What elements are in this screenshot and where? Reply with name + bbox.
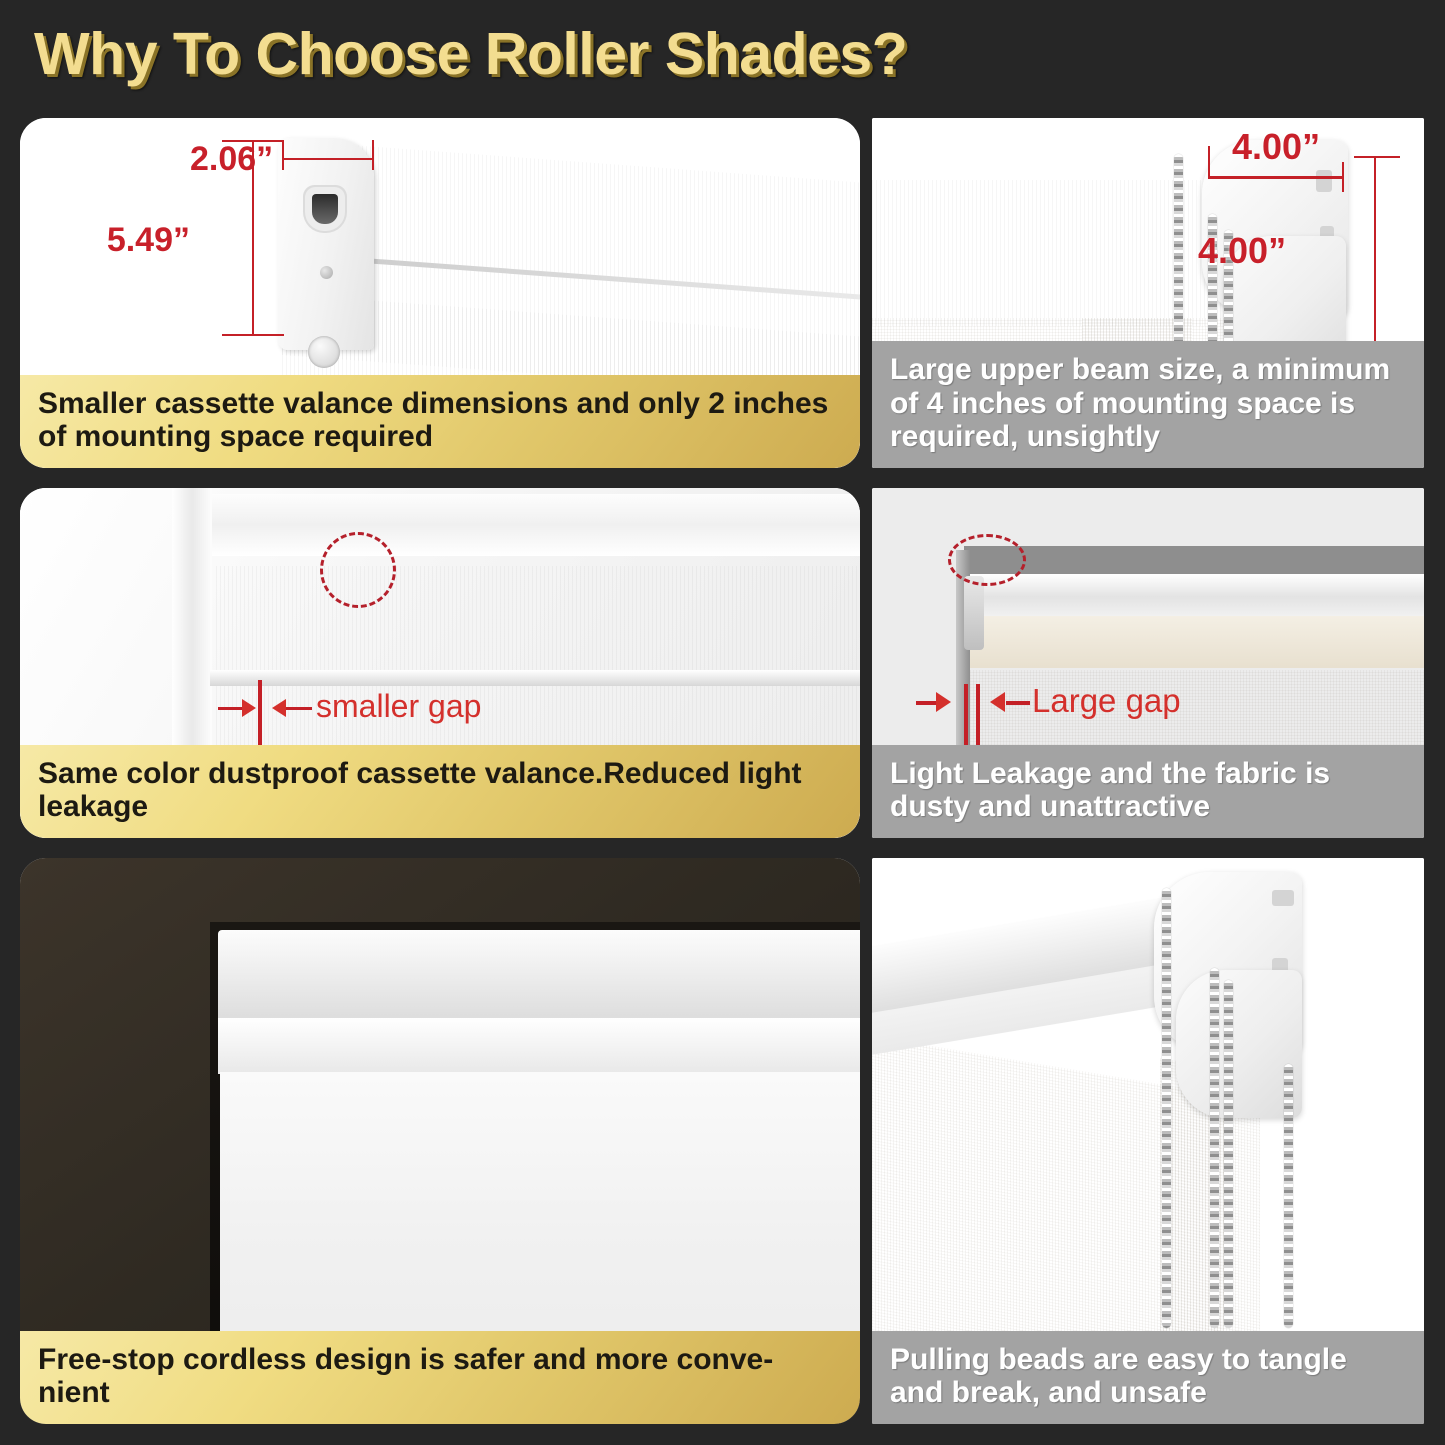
page-title: Why To Choose Roller Shades? (34, 20, 907, 88)
width-tick-right (372, 140, 374, 170)
width-tick-left (282, 140, 284, 170)
beam-width-tick-left (1208, 146, 1210, 178)
gap-arrow-right-head-icon (990, 692, 1005, 712)
beam-width-label: 4.00” (1232, 126, 1320, 168)
height-tick-top (222, 140, 284, 142)
gap-arrow-right-shaft (1006, 701, 1030, 705)
valance-knob (308, 336, 340, 368)
panel-large-gap: Large gap Light Leakage and the fabric i… (872, 488, 1424, 838)
panel-cordless-design: Free-stop cordless design is safer and m… (20, 858, 860, 1424)
bead-chain-3 (1224, 980, 1233, 1328)
height-dimension-label: 5.49” (107, 221, 190, 260)
valance-screw (320, 266, 333, 279)
smaller-gap-label: smaller gap (316, 688, 481, 725)
bead-chain-4 (1284, 1064, 1293, 1328)
panel-large-beam: 4.00” 4.00” Large upper beam size, a min… (872, 118, 1424, 468)
shade-rail (210, 670, 860, 686)
width-dimension-line (282, 158, 374, 160)
panel-6-caption: Pulling beads are easy to tangle and bre… (872, 1331, 1424, 1424)
gap-arrow-left-shaft (916, 701, 938, 705)
valance-slot (312, 194, 338, 224)
infographic-root: Why To Choose Roller Shades? 2.06” 5.49”… (0, 0, 1445, 1445)
header-bar: Why To Choose Roller Shades? (0, 0, 1445, 112)
shade-panel-upper (216, 566, 860, 674)
gap-arrow-right-head-icon (272, 699, 286, 717)
panel-4-caption: Light Leakage and the fabric is dusty an… (872, 745, 1424, 838)
window-frame-top (172, 494, 860, 556)
gap-arrow-right-shaft (286, 707, 312, 710)
mounting-clip (964, 576, 984, 650)
bead-chain-2 (1210, 968, 1219, 1328)
valance-end-cap (278, 138, 374, 350)
cream-valance (964, 616, 1424, 668)
panel-smaller-gap: smaller gap Same color dustproof cassett… (20, 488, 860, 838)
cassette-valance-lip (218, 1018, 860, 1074)
highlight-ring-icon (948, 534, 1026, 586)
gap-arrow-left-shaft (218, 707, 244, 710)
panel-pulling-beads: Pulling beads are easy to tangle and bre… (872, 858, 1424, 1424)
bracket-notch-1 (1316, 170, 1332, 192)
cassette-valance (218, 930, 860, 1022)
roller-tube (964, 574, 1424, 620)
gap-arrow-left-head-icon (936, 692, 951, 712)
bracket-notch-1 (1272, 890, 1294, 906)
large-gap-label: Large gap (1032, 682, 1181, 720)
beam-width-line (1208, 176, 1344, 179)
gap-arrow-left-head-icon (242, 699, 256, 717)
panel-5-caption: Free-stop cordless design is safer and m… (20, 1331, 860, 1424)
panel-3-caption: Same color dustproof cassette valance.Re… (20, 745, 860, 838)
panel-1-caption: Smaller cassette valance dimensions and … (20, 375, 860, 468)
width-dimension-label: 2.06” (190, 140, 273, 179)
height-dimension-line (252, 140, 254, 336)
beam-height-tick-top (1354, 156, 1400, 158)
highlight-ring-icon (320, 532, 396, 608)
panel-cassette-dimensions: 2.06” 5.49” Smaller cassette valance dim… (20, 118, 860, 468)
bead-chain-1 (1162, 888, 1171, 1328)
beam-height-label: 4.00” (1198, 230, 1286, 272)
panel-2-caption: Large upper beam size, a minimum of 4 in… (872, 341, 1424, 468)
height-tick-bottom (222, 334, 284, 336)
